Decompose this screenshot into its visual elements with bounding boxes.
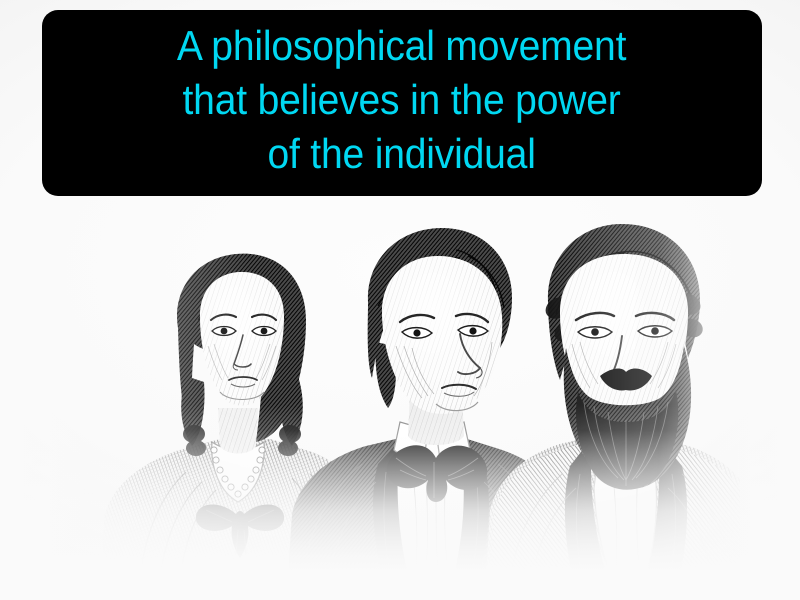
definition-banner: A philosophical movement that believes i… [42,10,762,196]
definition-card: A philosophical movement that believes i… [0,0,800,600]
transcendentalists-engraving [60,196,740,576]
portrait-right-bearded-man [486,224,740,576]
engraving-svg [60,196,740,576]
definition-text: A philosophical movement that believes i… [177,19,626,182]
